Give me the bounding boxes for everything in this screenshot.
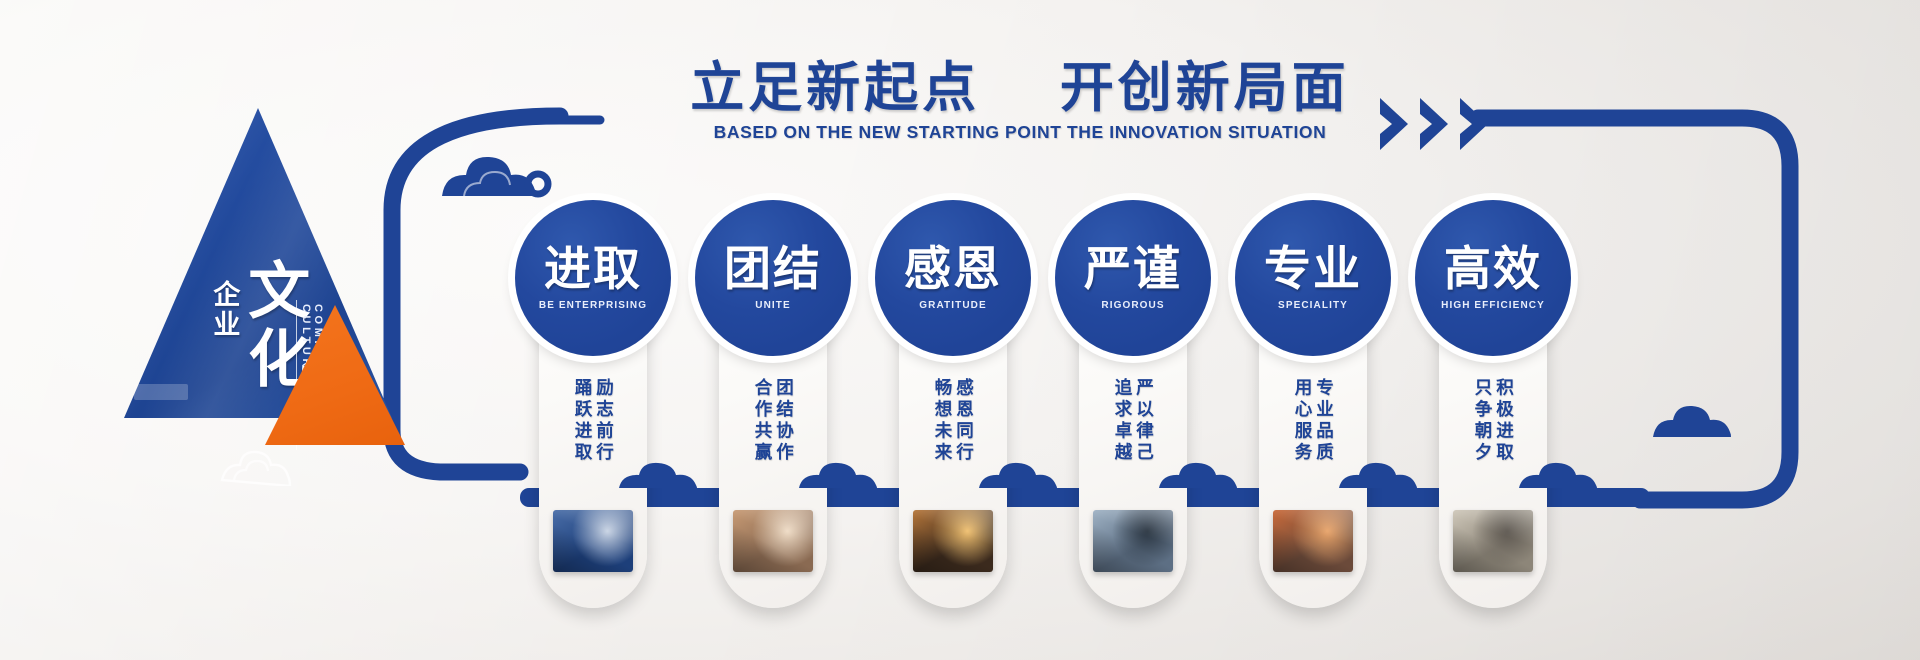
logo-cn-small: 企业 [210, 280, 238, 340]
photo-handshake [733, 510, 813, 572]
pill-circle-badge: 严谨RIGOROUS [1055, 200, 1211, 356]
cloud-motif-icon [977, 456, 1073, 490]
photo-sunset-silhouette [913, 510, 993, 572]
pill-slogan-line-1: 专业品质 [1315, 378, 1333, 498]
pill-slogan-line-1: 严以律己 [1135, 378, 1153, 498]
photo-shading [913, 510, 993, 572]
pill-en-label: GRATITUDE [919, 300, 987, 311]
pill-slogan-line-1: 励志前行 [595, 378, 613, 498]
pill-card-gratitude[interactable]: 感恩GRATITUDE感恩同行畅想未来 [899, 228, 1007, 608]
pill-slogan-line-1: 积极进取 [1495, 378, 1513, 498]
photo-shading [733, 510, 813, 572]
pill-card-unite[interactable]: 团结UNITE团结协作合作共赢 [719, 228, 827, 608]
pill-slogan-line-1: 团结协作 [775, 378, 793, 498]
photo-shading [1273, 510, 1353, 572]
photo-runner-track [1273, 510, 1353, 572]
pill-cn-title: 感恩 [904, 246, 1002, 293]
photo-shading [1453, 510, 1533, 572]
pill-card-rigorous[interactable]: 严谨RIGOROUS严以律己追求卓越 [1079, 228, 1187, 608]
cloud-motif-icon [1337, 456, 1433, 490]
pill-circle-badge: 高效HIGH EFFICIENCY [1415, 200, 1571, 356]
pill-slogan-line-2: 只争朝夕 [1474, 378, 1492, 498]
pill-circle-badge: 团结UNITE [695, 200, 851, 356]
pill-circle-badge: 进取BE ENTERPRISING [515, 200, 671, 356]
page-title: 立足新起点 开创新局面 [660, 60, 1380, 117]
photo-eagle [1093, 510, 1173, 572]
pill-cn-title: 专业 [1264, 246, 1362, 293]
page-subtitle: BASED ON THE NEW STARTING POINT THE INNO… [660, 122, 1380, 143]
culture-wall-stage: 企业 文化 COMPANY CULTURE 立足新起点 开创新局面 BASED … [0, 0, 1920, 660]
pill-cn-title: 严谨 [1084, 246, 1182, 293]
cloud-motif-icon [216, 440, 302, 486]
pill-en-label: HIGH EFFICIENCY [1441, 300, 1545, 311]
cloud-motif-icon [1650, 392, 1746, 442]
photo-shading [1093, 510, 1173, 572]
pill-cn-title: 团结 [724, 246, 822, 293]
headline-left: 立足新起点 [690, 56, 980, 119]
pill-cn-title: 进取 [544, 246, 642, 293]
chevron-right-icon [1458, 96, 1498, 152]
pill-slogan-line-2: 追求卓越 [1114, 378, 1132, 498]
pill-slogan-line-2: 踊跃进取 [574, 378, 592, 498]
header: 立足新起点 开创新局面 BASED ON THE NEW STARTING PO… [660, 60, 1380, 143]
cloud-motif-icon [797, 456, 893, 490]
cloud-motif-icon [1157, 456, 1253, 490]
cloud-motif-icon [438, 140, 558, 202]
pill-card-be-enterprising[interactable]: 进取BE ENTERPRISING励志前行踊跃进取 [539, 228, 647, 608]
pill-en-label: UNITE [755, 300, 791, 311]
cloud-motif-icon [617, 456, 713, 490]
pill-card-high-efficiency[interactable]: 高效HIGH EFFICIENCY积极进取只争朝夕 [1439, 228, 1547, 608]
cloud-motif-icon [1517, 456, 1613, 490]
pill-en-label: RIGOROUS [1101, 300, 1164, 311]
pill-card-speciality[interactable]: 专业SPECIALITY专业品质用心服务 [1259, 228, 1367, 608]
pill-circle-badge: 专业SPECIALITY [1235, 200, 1391, 356]
pill-en-label: SPECIALITY [1278, 300, 1348, 311]
pill-slogan-line-1: 感恩同行 [955, 378, 973, 498]
headline-right: 开创新局面 [1060, 56, 1350, 119]
pill-cn-title: 高效 [1444, 246, 1542, 293]
photo-shading [553, 510, 633, 572]
pill-slogan-line-2: 畅想未来 [934, 378, 952, 498]
chevron-right-icon [1378, 96, 1418, 152]
pill-slogan-line-2: 合作共赢 [754, 378, 772, 498]
logo-corner-badge [134, 384, 188, 400]
photo-stopwatch [1453, 510, 1533, 572]
pill-circle-badge: 感恩GRATITUDE [875, 200, 1031, 356]
chevron-right-icon [1418, 96, 1458, 152]
pill-slogan-line-2: 用心服务 [1294, 378, 1312, 498]
pill-en-label: BE ENTERPRISING [539, 300, 647, 311]
chevron-group [1378, 96, 1498, 152]
photo-teamwork-hands [553, 510, 633, 572]
